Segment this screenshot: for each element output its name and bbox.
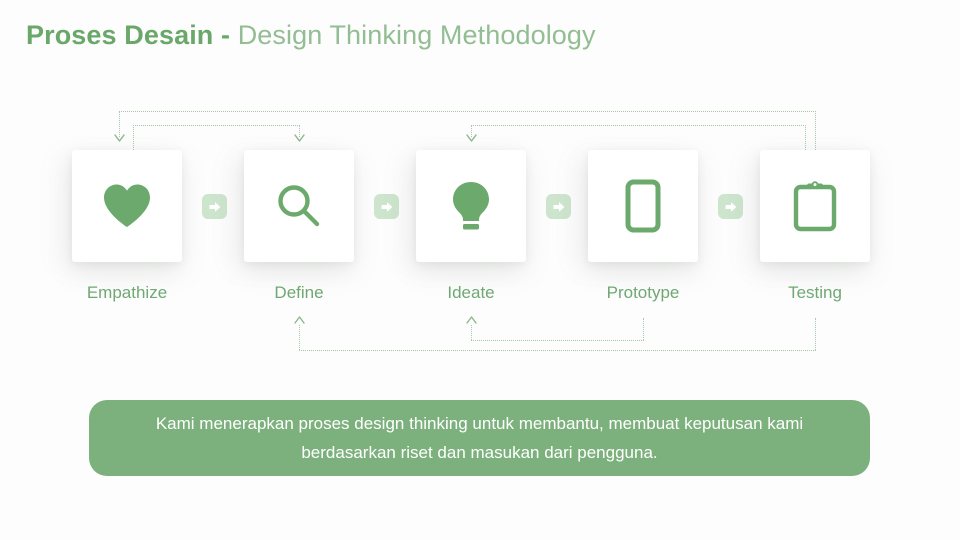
summary-banner: Kami menerapkan proses design thinking u…: [89, 400, 870, 476]
lightbulb-icon: [448, 179, 494, 233]
step-label-prototype: Prototype: [553, 283, 733, 303]
step-separator-3: [546, 194, 571, 219]
process-step-empathize[interactable]: [72, 150, 182, 262]
arrow-right-icon: [380, 200, 394, 214]
heart-icon: [101, 182, 153, 230]
summary-banner-text: Kami menerapkan proses design thinking u…: [129, 409, 830, 467]
step-card-testing[interactable]: [760, 150, 870, 262]
step-label-empathize: Empathize: [37, 283, 217, 303]
step-card-prototype[interactable]: [588, 150, 698, 262]
process-step-prototype[interactable]: [588, 150, 698, 262]
process-step-ideate[interactable]: [416, 150, 526, 262]
step-card-empathize[interactable]: [72, 150, 182, 262]
step-card-ideate[interactable]: [416, 150, 526, 262]
search-icon: [274, 181, 324, 231]
step-separator-4: [718, 194, 743, 219]
step-separator-2: [374, 194, 399, 219]
step-card-define[interactable]: [244, 150, 354, 262]
clipboard-icon: [792, 180, 838, 232]
arrow-right-icon: [552, 200, 566, 214]
process-step-define[interactable]: [244, 150, 354, 262]
arrow-right-icon: [208, 200, 222, 214]
arrow-right-icon: [724, 200, 738, 214]
step-label-define: Define: [209, 283, 389, 303]
process-step-testing[interactable]: [760, 150, 870, 262]
step-label-testing: Testing: [725, 283, 905, 303]
mobile-phone-icon: [624, 179, 662, 233]
step-separator-1: [202, 194, 227, 219]
step-label-ideate: Ideate: [381, 283, 561, 303]
